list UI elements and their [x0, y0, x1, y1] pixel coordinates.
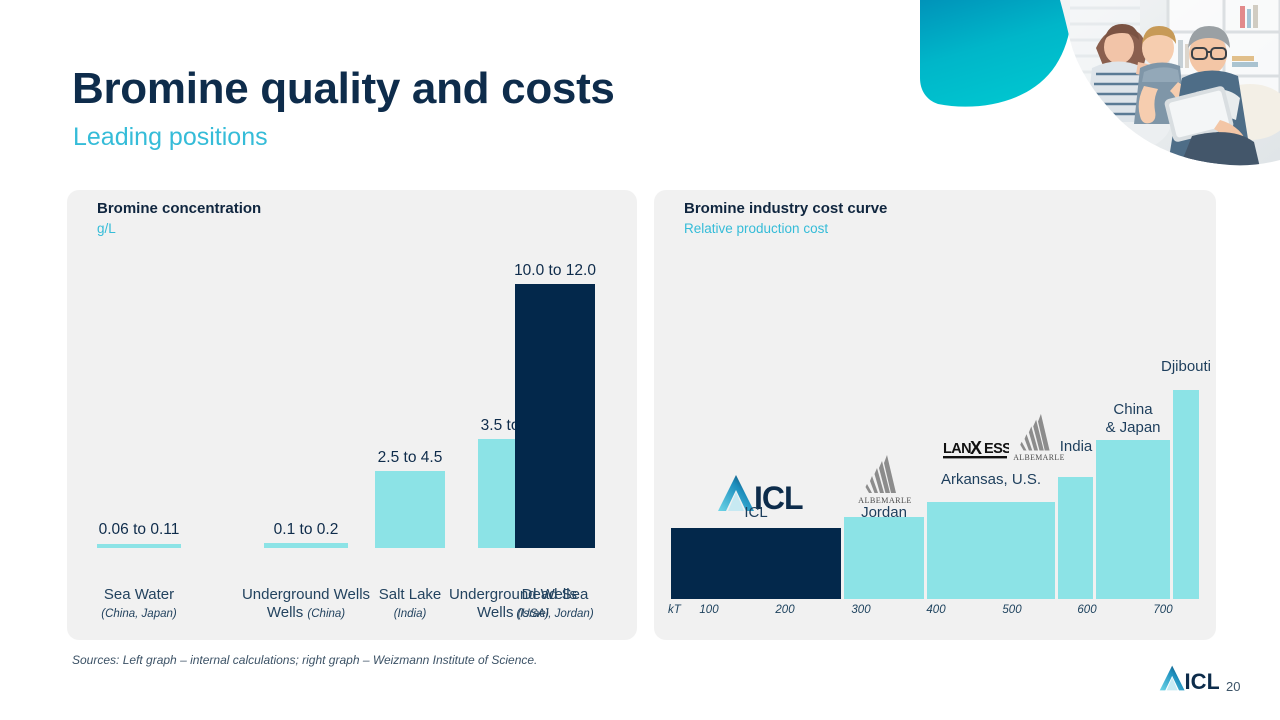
- bar-rect: [375, 471, 445, 548]
- lanxess-logo: LAN X ESS: [943, 439, 1009, 466]
- cost-label-china-japan: China & Japan: [1093, 401, 1173, 437]
- bar-salt-lake: 2.5 to 4.5: [375, 471, 445, 548]
- icl-logo-icon: ICL: [1157, 663, 1219, 693]
- page-subtitle: Leading positions: [73, 124, 268, 152]
- cost-bar-india: [1058, 477, 1093, 599]
- axis-unit-kt: kT: [668, 604, 681, 616]
- category-region: (China): [307, 608, 345, 620]
- sources-footnote: Sources: Left graph – internal calculati…: [72, 653, 537, 667]
- category-name-2: Wells: [477, 604, 513, 621]
- bar-value-label: 0.1 to 0.2: [274, 521, 339, 539]
- category-name: Dead Sea: [522, 586, 589, 603]
- albemarle-logo-icon: ALBEMARLE: [857, 453, 913, 505]
- svg-text:LAN: LAN: [943, 441, 971, 457]
- category-name: Salt Lake: [379, 586, 442, 603]
- cost-label-jordan: Jordan: [844, 504, 924, 522]
- category-name: Sea Water: [104, 586, 174, 603]
- china-japan-line2: & Japan: [1105, 419, 1160, 436]
- bar-value-label: 0.06 to 0.11: [99, 521, 180, 539]
- bar-rect: [515, 284, 595, 548]
- x-tick-300: 300: [851, 604, 870, 616]
- category-region: (China, Japan): [101, 608, 176, 620]
- x-tick-400: 400: [926, 604, 945, 616]
- category-region: (India): [394, 608, 427, 620]
- bar-dead-sea-rect-wrap: 10.0 to 12.0: [515, 284, 595, 548]
- cost-bar-arkansas: [927, 502, 1055, 599]
- cost-label-djibouti: Djibouti: [1146, 358, 1226, 376]
- lanxess-logo-icon: LAN X ESS: [943, 439, 1009, 461]
- bar-underground-wells-china: 0.1 to 0.2: [264, 543, 348, 548]
- svg-text:ESS: ESS: [984, 441, 1009, 457]
- cost-label-india: India: [1036, 438, 1116, 456]
- header-decoration: [920, 0, 1280, 175]
- slide: Bromine quality and costs Leading positi…: [0, 0, 1280, 720]
- bromine-cost-curve-chart: ICL ICL ALBEMARLE Jordan: [654, 190, 1216, 640]
- x-tick-500: 500: [1002, 604, 1021, 616]
- cost-label-icl: ICL: [716, 504, 796, 522]
- footer-icl-logo: ICL: [1157, 663, 1219, 698]
- page-number: 20: [1226, 679, 1240, 694]
- category-name-2: Wells: [267, 604, 303, 621]
- bar-category-underground-wells-china: Underground Wells Wells (China): [242, 586, 370, 623]
- bar-value-label: 10.0 to 12.0: [514, 262, 596, 280]
- bromine-cost-curve-panel: Bromine industry cost curve Relative pro…: [654, 190, 1216, 640]
- bar-category-dead-sea: Dead Sea (Israel, Jordan): [516, 586, 593, 623]
- svg-text:X: X: [970, 439, 982, 458]
- category-name: Underground Wells: [242, 586, 370, 603]
- cost-label-arkansas: Arkansas, U.S.: [926, 471, 1056, 489]
- bromine-concentration-chart: 0.06 to 0.11 Sea Water (China, Japan) 0.…: [67, 190, 637, 640]
- bar-rect: [97, 544, 181, 548]
- cost-bar-icl: [671, 528, 841, 599]
- x-tick-600: 600: [1077, 604, 1096, 616]
- decorative-swoosh-and-photo: [920, 0, 1280, 175]
- bar-sea-water: 0.06 to 0.11: [97, 544, 181, 548]
- x-tick-100: 100: [699, 604, 718, 616]
- x-tick-200: 200: [775, 604, 794, 616]
- x-tick-700: 700: [1153, 604, 1172, 616]
- bar-category-salt-lake: Salt Lake (India): [379, 586, 442, 623]
- bar-category-sea-water: Sea Water (China, Japan): [101, 586, 176, 623]
- cost-bar-jordan: [844, 517, 924, 599]
- china-japan-line1: China: [1113, 401, 1152, 418]
- category-region: (Israel, Jordan): [516, 608, 593, 620]
- bromine-concentration-panel: Bromine concentration g/L 0.06 to 0.11 S…: [67, 190, 637, 640]
- svg-text:ICL: ICL: [1185, 669, 1219, 693]
- albemarle-logo-jordan: ALBEMARLE: [857, 453, 913, 505]
- bar-value-label: 2.5 to 4.5: [378, 449, 443, 467]
- bar-rect: [264, 543, 348, 548]
- cost-bar-djibouti: [1173, 390, 1199, 599]
- page-title: Bromine quality and costs: [72, 66, 615, 112]
- cost-bar-china-japan: [1096, 440, 1170, 599]
